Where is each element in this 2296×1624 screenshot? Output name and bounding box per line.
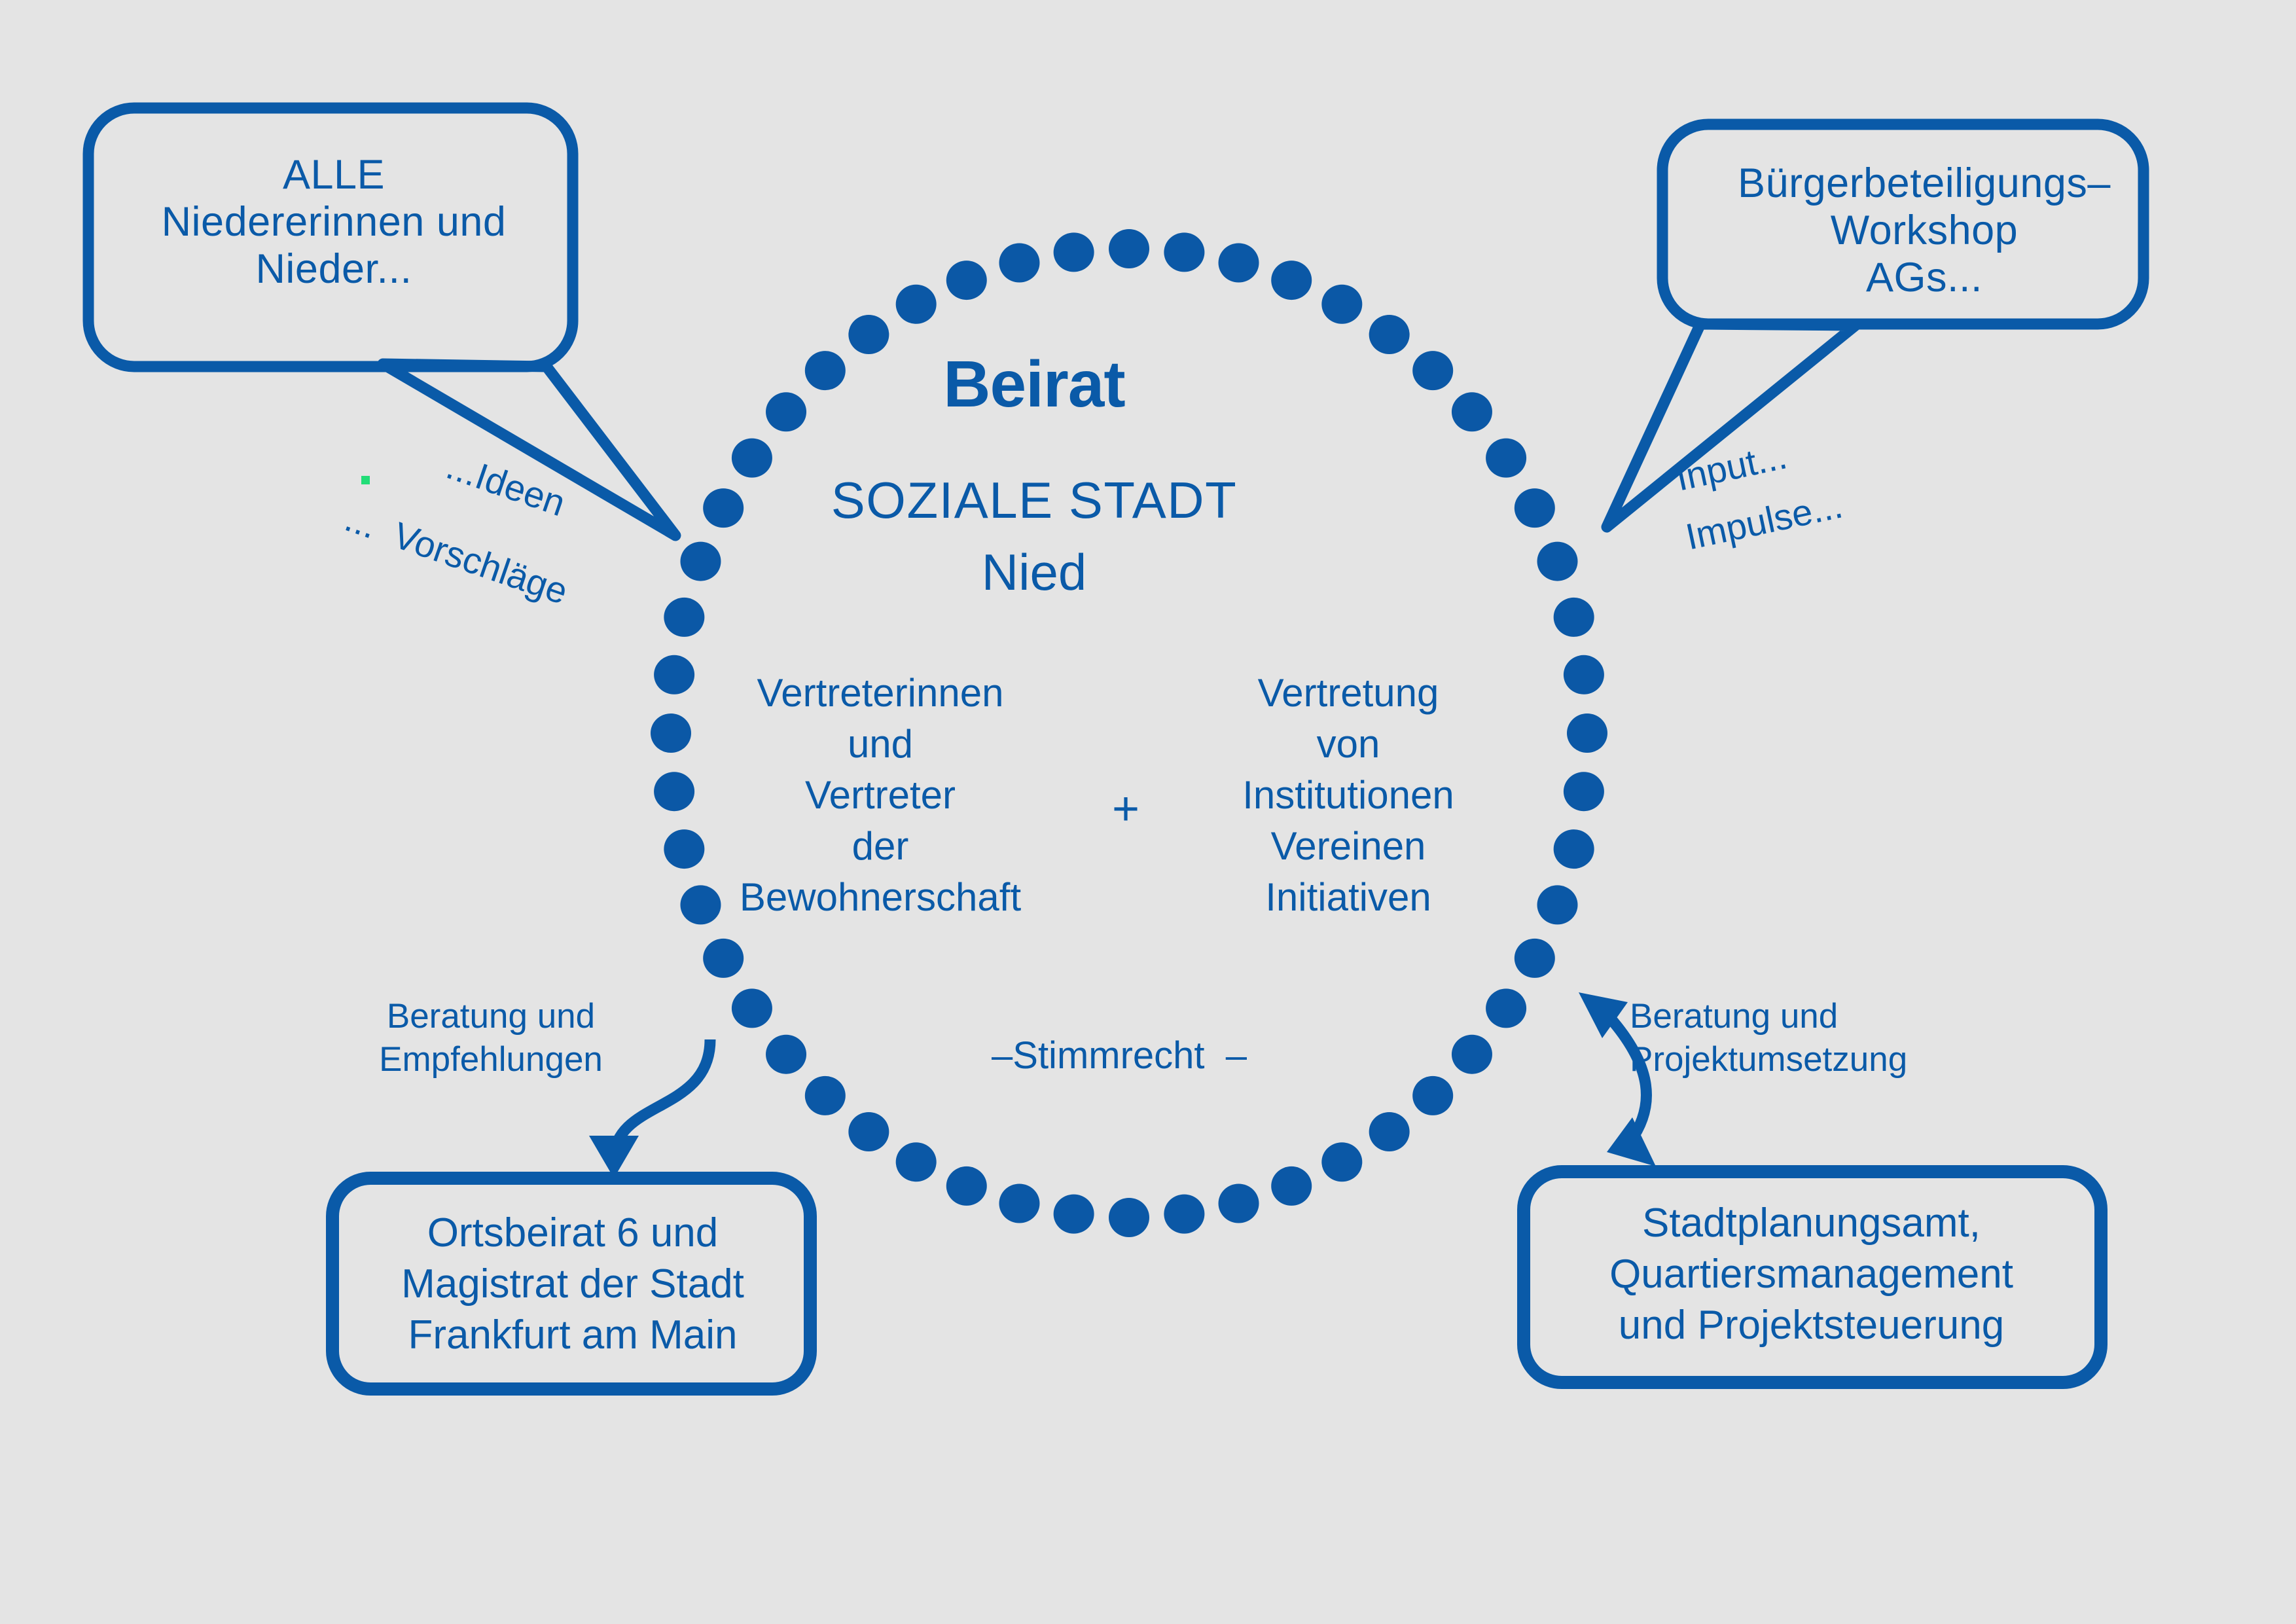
circle-dot	[1109, 1198, 1149, 1237]
circle-dot	[1564, 772, 1604, 811]
circle-dot	[664, 829, 704, 869]
box-right-label: Stadtplanungsamt, Quartiersmanagement un…	[1532, 1198, 2091, 1351]
circle-dot	[946, 261, 987, 300]
bubble-right-label: Bürgerbeteiligungs– Workshop AGs...	[1682, 160, 2166, 301]
circle-dot	[1054, 232, 1094, 272]
circle-dot	[1054, 1195, 1094, 1234]
circle-dot	[805, 1076, 846, 1115]
circle-footer-stimmrecht: –Stimmrecht –	[929, 1034, 1309, 1077]
circle-dot	[999, 1184, 1039, 1223]
circle-dot	[1321, 1142, 1362, 1182]
circle-dot	[1219, 1184, 1259, 1223]
circle-dot	[896, 1142, 937, 1182]
circle-dot	[651, 713, 691, 753]
circle-dot	[1271, 261, 1312, 300]
circle-dot	[1554, 829, 1594, 869]
circle-dot	[654, 655, 694, 695]
circle-location: Nied	[733, 543, 1335, 602]
circle-dot	[999, 244, 1039, 283]
circle-dot	[1564, 655, 1604, 695]
circle-column-right: Vertretung von Institutionen Vereinen In…	[1198, 668, 1499, 923]
circle-dot	[1412, 1076, 1453, 1115]
circle-column-left: Vertreterinnen und Vertreter der Bewohne…	[707, 668, 1054, 923]
circle-dot	[1369, 1112, 1410, 1151]
circle-dot	[1164, 232, 1204, 272]
circle-dot	[654, 772, 694, 811]
circle-dot	[1271, 1166, 1312, 1206]
circle-dot	[1219, 244, 1259, 283]
circle-dot	[1537, 542, 1578, 581]
circle-dot	[1452, 1035, 1492, 1074]
circle-title: Beirat	[733, 347, 1335, 422]
circle-dot	[1486, 439, 1526, 478]
circle-dot	[1554, 598, 1594, 637]
bubble-left-label: ALLE Niedererinnen und Nieder...	[92, 152, 576, 293]
circle-dot	[1412, 351, 1453, 390]
circle-dot	[1164, 1195, 1204, 1234]
plus-operator: +	[1073, 782, 1178, 836]
diagram-canvas: ALLE Niedererinnen und Nieder... Bürgerb…	[0, 0, 2296, 1624]
circle-dot	[732, 988, 772, 1028]
circle-dot	[1515, 488, 1555, 528]
circle-dot	[1486, 988, 1526, 1028]
circle-dot	[848, 1112, 889, 1151]
green-artifact-dot	[361, 476, 370, 484]
circle-dot	[1452, 392, 1492, 431]
circle-dot	[680, 542, 721, 581]
relation-label-right: Beratung und Projektumsetzung	[1630, 995, 1957, 1081]
circle-subtitle: SOZIALE STADT	[733, 471, 1335, 530]
circle-dot	[1369, 315, 1410, 354]
box-left-label: Ortsbeirat 6 und Magistrat der Stadt Fra…	[340, 1208, 805, 1361]
circle-dot	[664, 598, 704, 637]
circle-dot	[766, 1035, 806, 1074]
circle-dot	[1567, 713, 1607, 753]
circle-dot	[1321, 285, 1362, 324]
circle-dot	[1515, 939, 1555, 978]
relation-label-left: Beratung und Empfehlungen	[353, 995, 628, 1081]
circle-dot	[703, 939, 744, 978]
circle-dot	[896, 285, 937, 324]
circle-dot	[946, 1166, 987, 1206]
circle-dot	[1109, 229, 1149, 268]
circle-dot	[1537, 885, 1578, 924]
